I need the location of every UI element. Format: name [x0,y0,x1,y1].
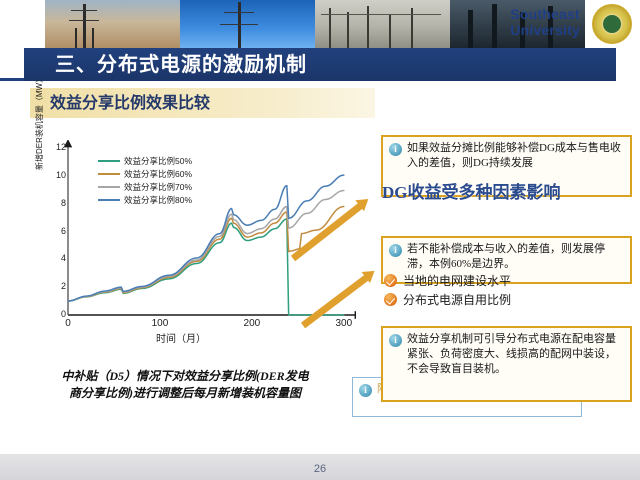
strip-left-spacer [0,0,45,48]
legend-label: 效益分享比例60% [124,168,192,180]
chart-y-tick-8: 8 [46,198,66,208]
legend-item-2: 效益分享比例70% [98,180,192,193]
brand-text: Southeast University [510,6,580,38]
overlay-animation-text: DG收益受多种因素影响 [382,178,561,203]
bullet-grid-level-text: 当地的电网建设水平 [403,272,511,289]
brand-line2: University [510,22,580,38]
brand-line1: Southeast [510,6,580,22]
legend-swatch [98,160,120,162]
info-icon: i [359,384,372,397]
legend-swatch [98,199,120,201]
chart-y-tick-6: 6 [46,226,66,236]
chart-y-tick-4: 4 [46,253,66,263]
title-bar-cap [0,48,24,81]
photo-transmission-tower-blue-sky [180,0,315,48]
photo-substation-equipment [315,0,450,48]
callout-guidance: i 效益分享机制可引导分布式电源在配电容量紧张、负荷密度大、线损高的配网中装设，… [381,326,632,402]
header-photo-strip [45,0,585,48]
check-icon [384,293,397,306]
info-icon: i [389,244,402,257]
photo-transmission-tower-sunset [45,0,180,48]
legend-swatch [98,186,120,188]
chart-legend: 效益分享比例50%效益分享比例60%效益分享比例70%效益分享比例80% [98,154,192,206]
callout-boundary-text: 若不能补偿成本与收入的差值，则发展停滞，本例60%是边界。 [407,242,624,272]
chart-x-tick-200: 200 [244,318,261,329]
chart-y-ticks: 024681012 [44,140,66,315]
bullet-self-use-text: 分布式电源自用比例 [403,291,511,308]
chart-y-tick-2: 2 [46,281,66,291]
chart-x-tick-0: 0 [65,318,71,329]
legend-item-3: 效益分享比例80% [98,193,192,206]
legend-swatch [98,173,120,175]
callout-dg-development-text: 如果效益分摊比例能够补偿DG成本与售电收入的差值，则DG持续发展 [407,141,624,171]
chart-x-tick-300: 300 [335,318,352,329]
chart-y-tick-10: 10 [46,170,66,180]
legend-item-1: 效益分享比例60% [98,167,192,180]
check-icon [384,274,397,287]
chart-plot-area [36,140,356,340]
bullet-grid-level: 当地的电网建设水平 [384,272,511,289]
seu-seal-icon [592,4,632,44]
legend-item-0: 效益分享比例50% [98,154,192,167]
chart-x-axis-label: 时间（月） [156,330,206,345]
page-title: 三、分布式电源的激励机制 [55,52,555,79]
legend-label: 效益分享比例70% [124,181,192,193]
chart-x-tick-100: 100 [152,318,169,329]
chart-y-tick-12: 12 [46,142,66,152]
chart-caption: 中补贴（D5）情况下对效益分享比例(DER发电商分享比例)进行调整后每月新增装机… [60,368,310,402]
subtitle-text: 效益分享比例效果比较 [50,92,370,115]
info-icon: i [389,334,402,347]
bullet-self-use: 分布式电源自用比例 [384,291,511,308]
page-number: 26 [0,463,640,475]
legend-label: 效益分享比例50% [124,155,192,167]
callout-guidance-text: 效益分享机制可引导分布式电源在配电容量紧张、负荷密度大、线损高的配网中装设，不会… [407,332,624,377]
info-icon: i [389,143,402,156]
legend-label: 效益分享比例80% [124,194,192,206]
chart-y-tick-0: 0 [46,309,66,319]
